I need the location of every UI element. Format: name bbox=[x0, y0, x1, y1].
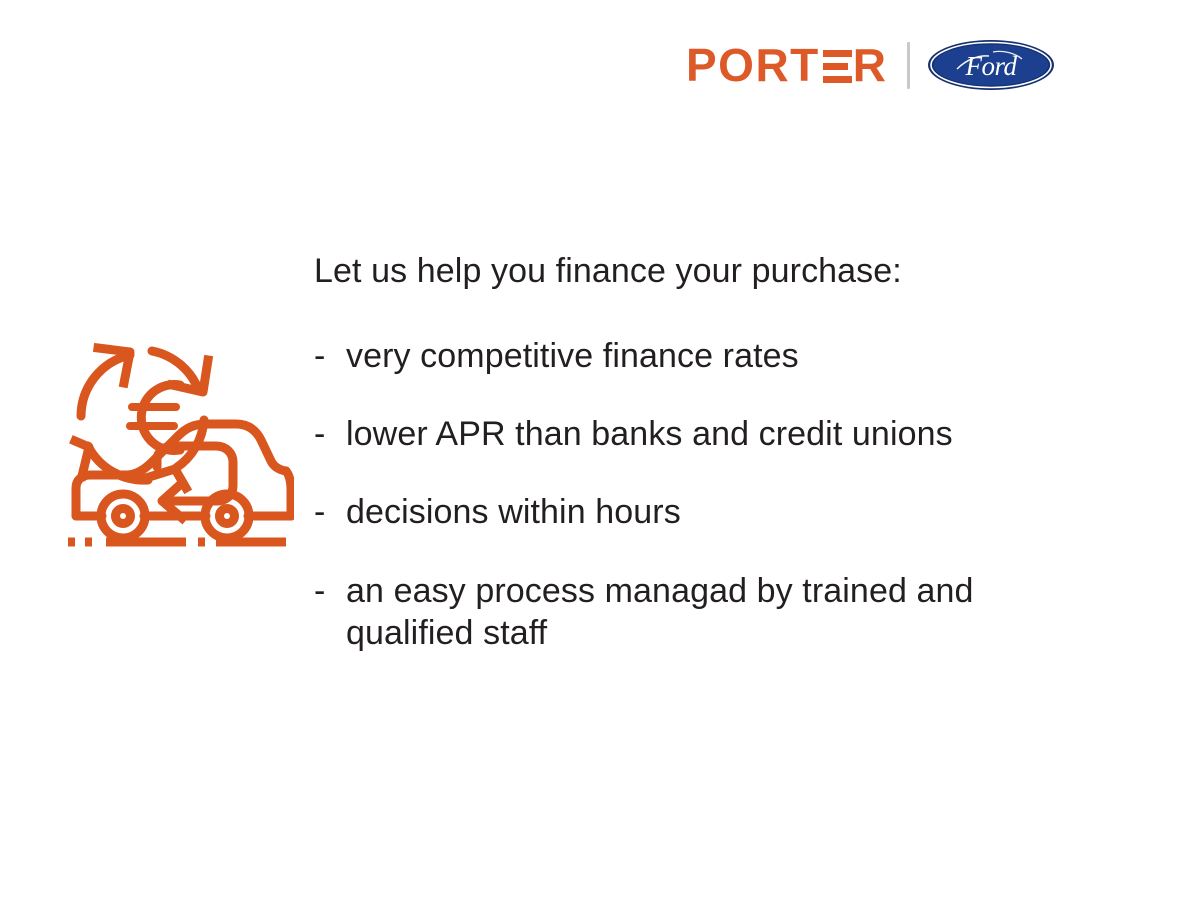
bullet-marker: - bbox=[314, 570, 346, 612]
svg-text:Ford: Ford bbox=[964, 51, 1017, 81]
page-headline: Let us help you finance your purchase: bbox=[314, 252, 1104, 291]
list-item-label: an easy process managad by trained and q… bbox=[346, 570, 1104, 654]
porter-wordmark-part1: PORT bbox=[686, 42, 820, 88]
list-item: - decisions within hours bbox=[314, 491, 1104, 533]
ford-logo[interactable]: Ford bbox=[927, 39, 1055, 91]
car-finance-illustration bbox=[58, 328, 294, 568]
bullet-marker: - bbox=[314, 335, 346, 377]
car-finance-icon bbox=[58, 328, 294, 568]
porter-stylized-e-icon bbox=[823, 50, 852, 83]
list-item: - lower APR than banks and credit unions bbox=[314, 413, 1104, 455]
finance-copy-block: Let us help you finance your purchase: -… bbox=[314, 252, 1104, 654]
finance-benefits-list: - very competitive finance rates - lower… bbox=[314, 335, 1104, 654]
ford-oval-icon: Ford bbox=[927, 39, 1055, 91]
brand-lockup: PORT R Ford bbox=[686, 34, 1055, 96]
bullet-marker: - bbox=[314, 413, 346, 455]
list-item: - an easy process managad by trained and… bbox=[314, 570, 1104, 654]
porter-wordmark-part2: R bbox=[853, 42, 888, 88]
bullet-marker: - bbox=[314, 491, 346, 533]
list-item-label: decisions within hours bbox=[346, 491, 1104, 533]
list-item-label: lower APR than banks and credit unions bbox=[346, 413, 1104, 455]
brand-divider bbox=[907, 42, 910, 89]
porter-logo[interactable]: PORT R bbox=[686, 41, 888, 89]
list-item: - very competitive finance rates bbox=[314, 335, 1104, 377]
list-item-label: very competitive finance rates bbox=[346, 335, 1104, 377]
